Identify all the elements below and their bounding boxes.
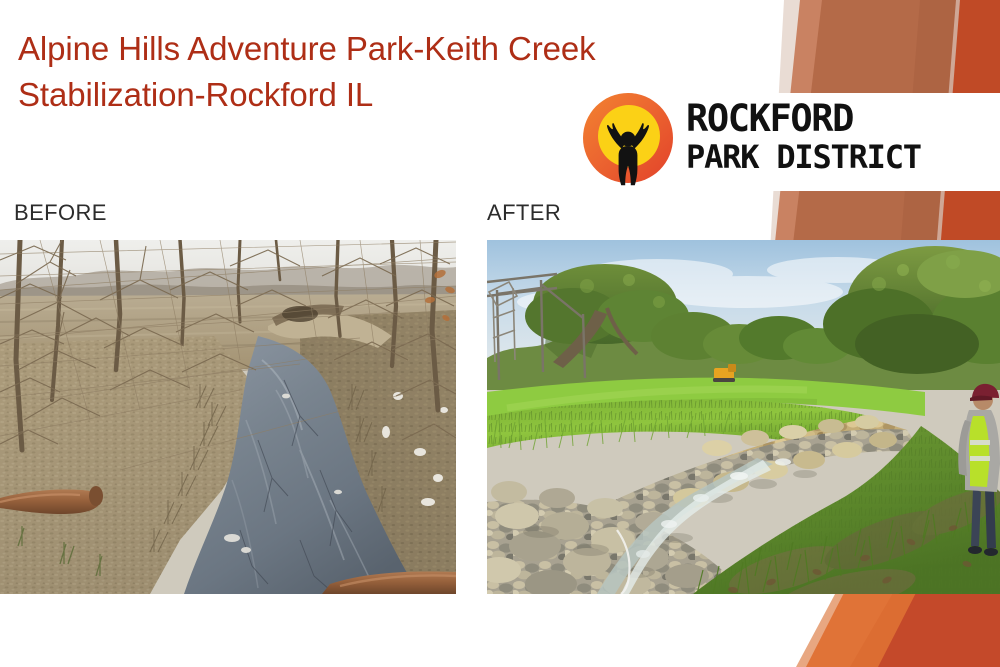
logo-wordmark-shape: ROCKFORD PARK DISTRICT [686,96,986,176]
title-block: Alpine Hills Adventure Park-Keith Creek … [18,26,618,117]
photo-before-creek-erosion-render [0,240,456,594]
slide-canvas: Alpine Hills Adventure Park-Keith Creek … [0,0,1000,667]
photo-after-creek-stabilized-render [487,240,1000,594]
photo-label-after: AFTER [487,200,561,226]
sun-with-person-arms-raised-icon-shape [574,84,682,192]
logo-wordmark-line-1: ROCKFORD [686,97,853,140]
rockford-park-district-logo[interactable]: ROCKFORD PARK DISTRICT [574,84,1000,192]
page-title: Alpine Hills Adventure Park-Keith Creek … [18,26,618,117]
photo-before-creek-erosion [0,240,456,594]
photo-after-creek-stabilized [487,240,1000,594]
photo-label-before: BEFORE [14,200,107,226]
sun-with-person-arms-raised-icon [574,84,682,192]
logo-wordmark-line-2: PARK DISTRICT [686,138,921,176]
logo-wordmark: ROCKFORD PARK DISTRICT [686,96,986,181]
